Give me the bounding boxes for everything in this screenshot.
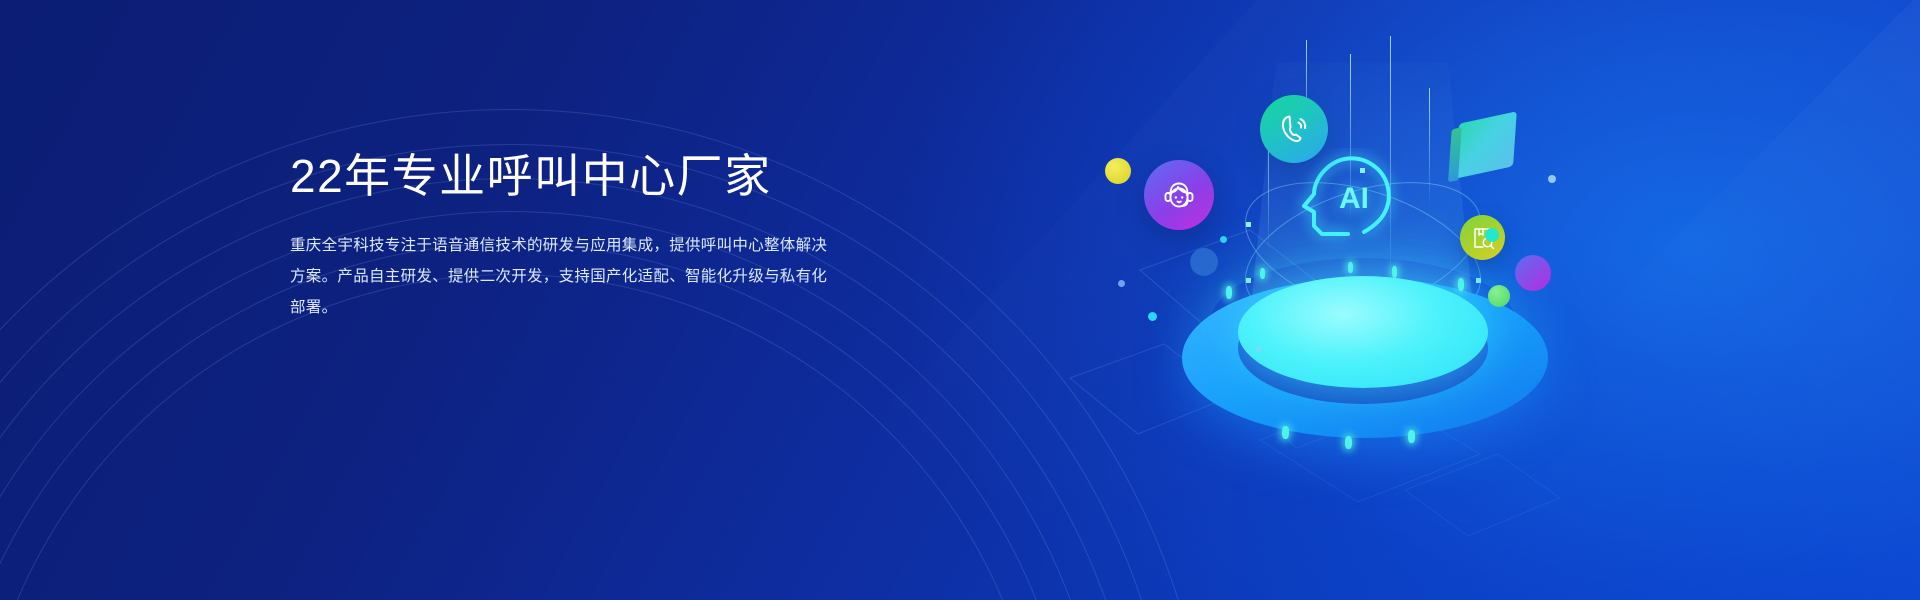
spark [1345, 436, 1352, 449]
beam-line [1429, 88, 1430, 208]
hero-copy-block: 22年专业呼叫中心厂家 重庆全宇科技专注于语音通信技术的研发与应用集成，提供呼叫… [290, 148, 990, 323]
isometric-card-icon[interactable] [1455, 111, 1517, 178]
spark [1348, 262, 1353, 273]
agent-face-glyph [1159, 175, 1199, 215]
page-title: 22年专业呼叫中心厂家 [290, 148, 990, 204]
hero-illustration: AI [1060, 40, 1620, 560]
decor-dot-small [1118, 280, 1125, 287]
decor-dot-green [1488, 285, 1510, 307]
ai-head-icon: AI [1292, 148, 1404, 254]
hero-description: 重庆全宇科技专注于语音通信技术的研发与应用集成，提供呼叫中心整体解决方案。产品自… [290, 230, 835, 323]
spark [1260, 268, 1265, 279]
beam-line [1350, 54, 1351, 224]
decor-dot-yellow [1105, 158, 1131, 184]
spark [1226, 286, 1232, 299]
decor-dot-magenta [1515, 255, 1551, 291]
decor-dot-small [1256, 346, 1262, 352]
spark [1392, 266, 1397, 278]
customer-service-agent-icon[interactable] [1144, 160, 1214, 230]
phone-glyph [1276, 111, 1312, 147]
phone-call-icon[interactable] [1260, 95, 1328, 163]
decor-dot-blue [1190, 248, 1218, 276]
decor-dot-cyan [1485, 228, 1499, 242]
hero-banner: 22年专业呼叫中心厂家 重庆全宇科技专注于语音通信技术的研发与应用集成，提供呼叫… [0, 0, 1920, 600]
decor-dot-small [1548, 175, 1556, 183]
podium-inner [1238, 276, 1488, 388]
decor-dot-small [1148, 312, 1157, 321]
ai-label: AI [1339, 182, 1369, 215]
beam-line [1390, 36, 1391, 286]
decor-dot-small [1220, 236, 1227, 243]
